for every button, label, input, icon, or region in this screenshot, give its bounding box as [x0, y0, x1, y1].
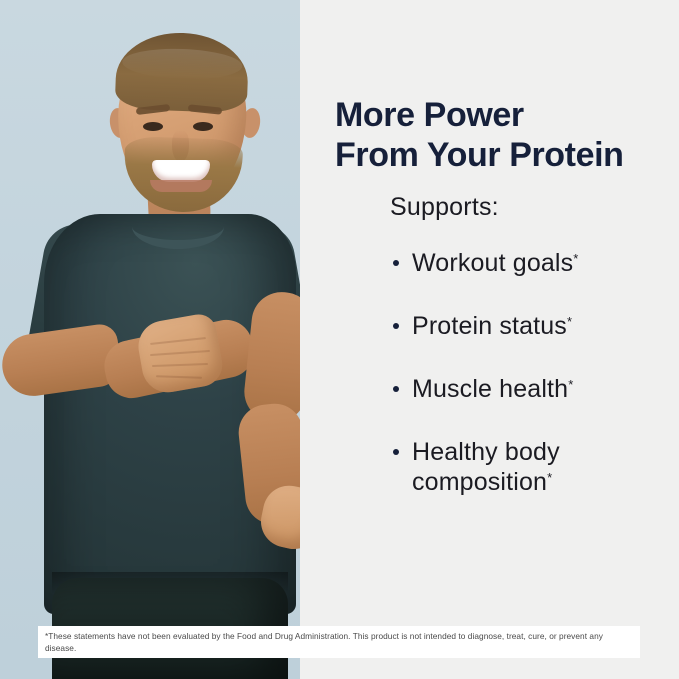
model-eye-left — [143, 122, 163, 131]
list-item-label: Protein status — [412, 312, 567, 340]
model-eye-right — [193, 122, 213, 131]
list-item-label: Healthy body composition — [412, 438, 560, 496]
bullet-dot-icon — [393, 323, 399, 329]
product-lifestyle-graphic: More Power From Your Protein Supports: W… — [0, 0, 679, 679]
list-item: Healthy body composition* — [390, 437, 670, 497]
model-collar — [132, 204, 224, 249]
bullet-dot-icon — [393, 386, 399, 392]
bullet-dot-icon — [393, 449, 399, 455]
photo-panel — [0, 0, 300, 679]
page-title-line-2: From Your Protein — [335, 135, 665, 175]
model-lower-lip — [150, 180, 212, 192]
bullet-dot-icon — [393, 260, 399, 266]
page-title: More Power From Your Protein — [335, 95, 665, 175]
list-item-label: Workout goals — [412, 249, 573, 277]
list-item: Protein status* — [390, 311, 670, 341]
model-figure — [0, 0, 300, 679]
benefits-list: Workout goals* Protein status* Muscle he… — [390, 248, 670, 497]
footnote-marker: * — [568, 377, 573, 392]
footnote-marker: * — [547, 470, 552, 485]
supports-label: Supports: — [390, 193, 499, 222]
list-item: Muscle health* — [390, 374, 670, 404]
list-item-label: Muscle health — [412, 375, 568, 403]
footnote-marker: * — [573, 251, 578, 266]
page-title-line-1: More Power — [335, 95, 665, 135]
content-panel: More Power From Your Protein Supports: W… — [300, 0, 679, 679]
legal-disclaimer: *These statements have not been evaluate… — [38, 626, 640, 658]
list-item: Workout goals* — [390, 248, 670, 278]
footnote-marker: * — [567, 314, 572, 329]
model-hair — [115, 31, 250, 114]
model-smile — [152, 160, 210, 182]
